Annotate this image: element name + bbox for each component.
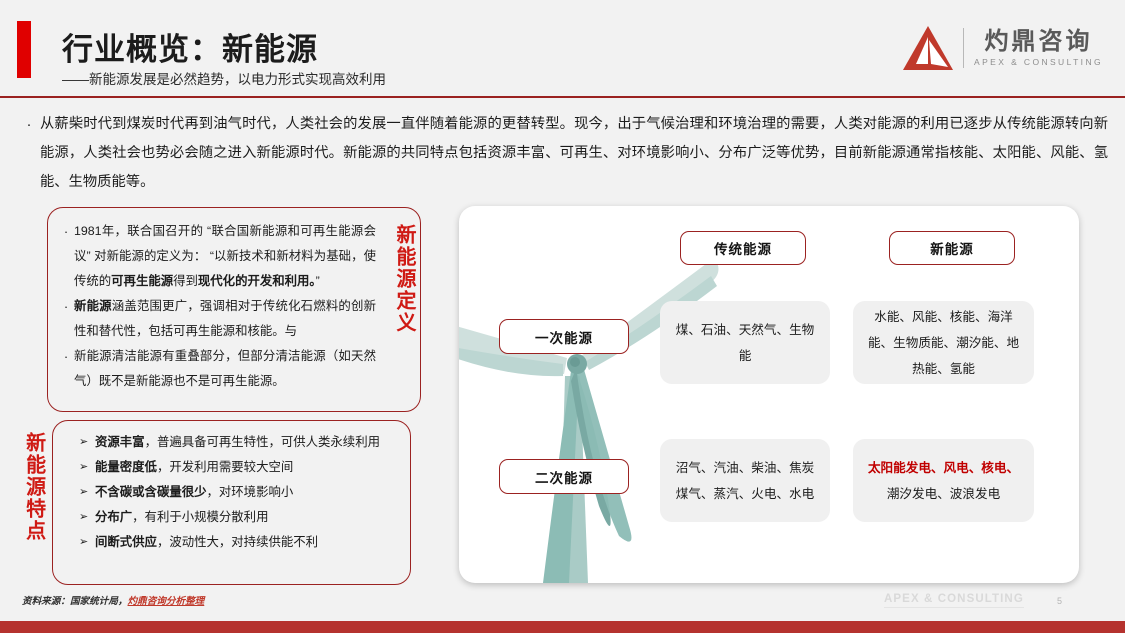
definition-item-1: 1981年，联合国召开的 “联合国新能源和可再生能源会议” 对新能源的定义为： … xyxy=(74,219,376,294)
bullet-icon: · xyxy=(58,219,74,294)
list-item: · 1981年，联合国召开的 “联合国新能源和可再生能源会议” 对新能源的定义为… xyxy=(58,219,376,294)
arrow-bullet-icon: ➢ xyxy=(79,530,95,555)
page-title: 行业概览：新能源 xyxy=(62,24,318,69)
definition-list: · 1981年，联合国召开的 “联合国新能源和可再生能源会议” 对新能源的定义为… xyxy=(58,219,376,394)
source-note: 资料来源：国家统计局，灼鼎咨询分析整理 xyxy=(22,593,204,607)
list-item: ➢ 资源丰富，普遍具备可再生特性，可供人类永续利用 xyxy=(79,430,399,455)
cell-text: 潮汐发电、波浪发电 xyxy=(887,487,1000,501)
cell-traditional-secondary: 沼气、汽油、柴油、焦炭煤气、蒸汽、火电、水电 xyxy=(660,439,830,522)
source-link[interactable]: 灼鼎咨询分析整理 xyxy=(128,596,205,607)
text-bold: 分布广 xyxy=(95,510,132,524)
logo-name-en: APEX & CONSULTING xyxy=(974,57,1103,67)
cell-text: 沼气、汽油、柴油、焦炭煤气、蒸汽、火电、水电 xyxy=(674,455,816,507)
cell-new-secondary: 太阳能发电、风电、核电、潮汐发电、波浪发电 xyxy=(853,439,1034,522)
feature-item-2: 能量密度低，开发利用需要较大空间 xyxy=(95,455,399,480)
list-item: ➢ 能量密度低，开发利用需要较大空间 xyxy=(79,455,399,480)
cell-text: 水能、风能、核能、海洋能、生物质能、潮汐能、地热能、氢能 xyxy=(867,304,1020,382)
arrow-bullet-icon: ➢ xyxy=(79,430,95,455)
arrow-bullet-icon: ➢ xyxy=(79,480,95,505)
definition-item-3: 新能源清洁能源有重叠部分，但部分清洁能源（如天然气）既不是新能源也不是可再生能源… xyxy=(74,344,376,394)
text-rest: ，有利于小规模分散利用 xyxy=(132,510,268,524)
bullet-icon: · xyxy=(58,294,74,344)
definition-box: · 1981年，联合国召开的 “联合国新能源和可再生能源会议” 对新能源的定义为… xyxy=(47,207,421,412)
text-bold-1: 新能源 xyxy=(74,299,112,313)
page-number: 5 xyxy=(1057,596,1062,606)
text-post: ” xyxy=(316,274,320,288)
definition-vertical-label: 新能源定义 xyxy=(392,224,414,334)
definition-item-2: 新能源涵盖范围更广，强调相对于传统化石燃料的创新性和替代性，包括可再生能源和核能… xyxy=(74,294,376,344)
features-list: ➢ 资源丰富，普遍具备可再生特性，可供人类永续利用 ➢ 能量密度低，开发利用需要… xyxy=(79,430,399,555)
logo-wordmark: 灼鼎咨询 APEX & CONSULTING xyxy=(974,29,1103,67)
list-item: ➢ 不含碳或含碳量很少，对环境影响小 xyxy=(79,480,399,505)
cell-new-primary: 水能、风能、核能、海洋能、生物质能、潮汐能、地热能、氢能 xyxy=(853,301,1034,384)
arrow-bullet-icon: ➢ xyxy=(79,455,95,480)
intro-text: 从薪柴时代到煤炭时代再到油气时代，人类社会的发展一直伴随着能源的更替转型。现今，… xyxy=(40,110,1108,197)
cell-traditional-primary: 煤、石油、天然气、生物能 xyxy=(660,301,830,384)
row-header-primary: 一次能源 xyxy=(499,319,629,354)
text-rest: ，对环境影响小 xyxy=(207,485,294,499)
cell-text-highlight: 太阳能发电、风电、核电、 xyxy=(868,461,1019,475)
feature-item-4: 分布广，有利于小规模分散利用 xyxy=(95,505,399,530)
text-bold: 资源丰富 xyxy=(95,435,145,449)
slide: 行业概览：新能源 ——新能源发展是必然趋势，以电力形式实现高效利用 灼鼎咨询 A… xyxy=(0,0,1125,633)
column-header-traditional: 传统能源 xyxy=(680,231,806,265)
page-subtitle: ——新能源发展是必然趋势，以电力形式实现高效利用 xyxy=(62,68,386,88)
header-divider xyxy=(0,96,1125,98)
source-label: 资料来源：国家统计局， xyxy=(22,596,128,607)
feature-item-3: 不含碳或含碳量很少，对环境影响小 xyxy=(95,480,399,505)
features-vertical-label: 新能源特点 xyxy=(22,432,44,542)
column-header-new: 新能源 xyxy=(889,231,1015,265)
footer-brand: APEX & CONSULTING xyxy=(884,593,1024,608)
intro-paragraph: · 从薪柴时代到煤炭时代再到油气时代，人类社会的发展一直伴随着能源的更替转型。现… xyxy=(18,110,1108,197)
arrow-bullet-icon: ➢ xyxy=(79,505,95,530)
text-rest: ，开发利用需要较大空间 xyxy=(157,460,293,474)
text-post: 涵盖范围更广，强调相对于传统化石燃料的创新性和替代性，包括可再生能源和核能。与 xyxy=(74,299,376,338)
list-item: ➢ 分布广，有利于小规模分散利用 xyxy=(79,505,399,530)
logo-triangle-icon xyxy=(901,24,955,72)
text-rest: ，普遍具备可再生特性，可供人类永续利用 xyxy=(145,435,380,449)
intro-bullet-icon: · xyxy=(18,110,40,197)
list-item: ➢ 间断式供应，波动性大，对持续供能不利 xyxy=(79,530,399,555)
text-mid: 得到 xyxy=(173,274,198,288)
text-bold: 不含碳或含碳量很少 xyxy=(95,485,207,499)
logo-divider xyxy=(963,28,964,68)
cell-text: 煤、石油、天然气、生物能 xyxy=(674,317,816,369)
footer-bar xyxy=(0,621,1125,633)
text-post: 新能源清洁能源有重叠部分，但部分清洁能源（如天然气）既不是新能源也不是可再生能源… xyxy=(74,349,376,388)
text-bold-1: 可再生能源 xyxy=(111,274,173,288)
row-header-secondary: 二次能源 xyxy=(499,459,629,494)
text-bold-2: 现代化的开发和利用。 xyxy=(198,274,316,288)
feature-item-1: 资源丰富，普遍具备可再生特性，可供人类永续利用 xyxy=(95,430,399,455)
energy-matrix-panel: 传统能源 新能源 一次能源 二次能源 煤、石油、天然气、生物能 水能、风能、核能… xyxy=(459,206,1079,583)
company-logo: 灼鼎咨询 APEX & CONSULTING xyxy=(901,18,1103,78)
features-box: ➢ 资源丰富，普遍具备可再生特性，可供人类永续利用 ➢ 能量密度低，开发利用需要… xyxy=(52,420,411,585)
text-bold: 能量密度低 xyxy=(95,460,157,474)
text-rest: ，波动性大，对持续供能不利 xyxy=(157,535,318,549)
list-item: · 新能源清洁能源有重叠部分，但部分清洁能源（如天然气）既不是新能源也不是可再生… xyxy=(58,344,376,394)
feature-item-5: 间断式供应，波动性大，对持续供能不利 xyxy=(95,530,399,555)
logo-name-cn: 灼鼎咨询 xyxy=(985,29,1093,54)
text-bold: 间断式供应 xyxy=(95,535,157,549)
slide-header: 行业概览：新能源 ——新能源发展是必然趋势，以电力形式实现高效利用 灼鼎咨询 A… xyxy=(0,0,1125,98)
title-accent-bar xyxy=(17,21,31,78)
bullet-icon: · xyxy=(58,344,74,394)
list-item: · 新能源涵盖范围更广，强调相对于传统化石燃料的创新性和替代性，包括可再生能源和… xyxy=(58,294,376,344)
